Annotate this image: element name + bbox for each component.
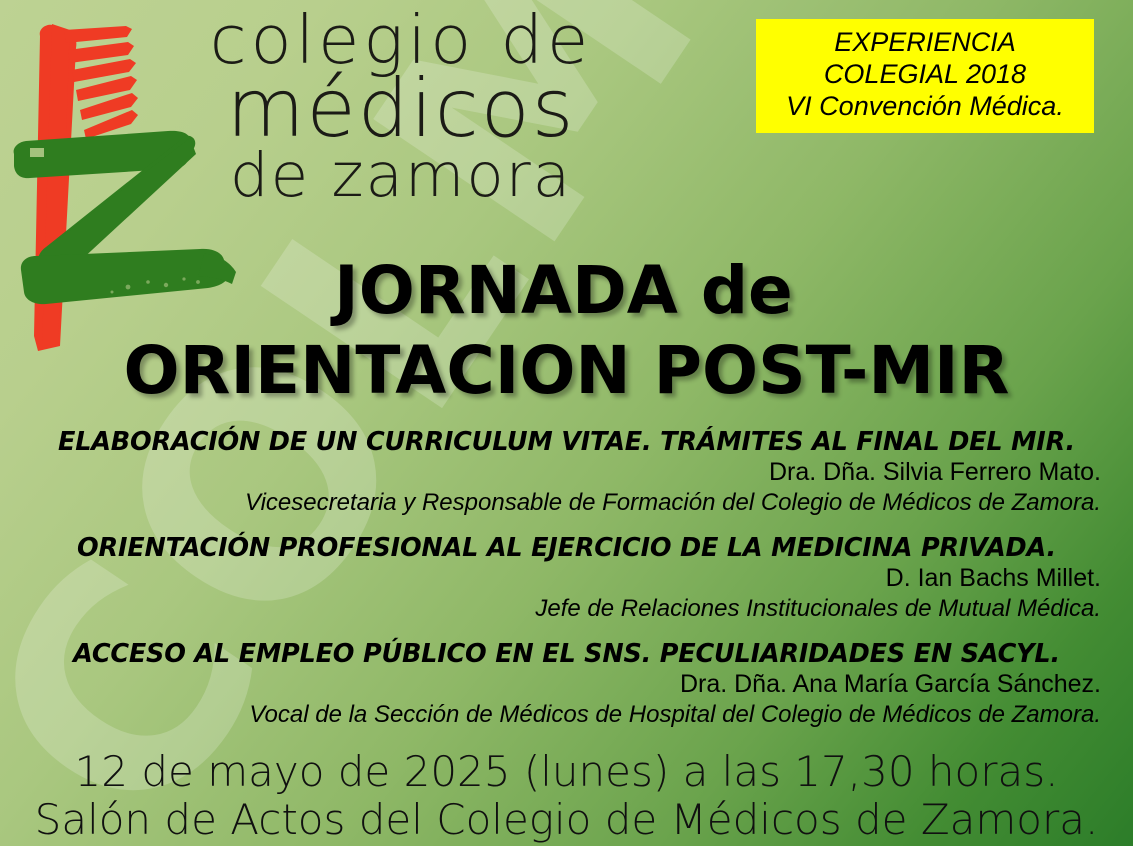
experiencia-colegial-badge: EXPERIENCIA COLEGIAL 2018 VI Convención … (756, 19, 1094, 133)
badge-line-3: VI Convención Médica. (786, 91, 1064, 123)
colegio-wordmark: colegio de médicos de zamora (186, 8, 616, 206)
session-title: ACCESO AL EMPLEO PÚBLICO EN EL SNS. PECU… (22, 640, 1111, 668)
session-title: ORIENTACIÓN PROFESIONAL AL EJERCICIO DE … (22, 534, 1111, 562)
session-item: ACCESO AL EMPLEO PÚBLICO EN EL SNS. PECU… (22, 640, 1111, 730)
title-line-1: JORNADA de (0, 258, 1133, 324)
session-role: Jefe de Relaciones Institucionales de Mu… (22, 594, 1111, 624)
event-venue: Salón de Actos del Colegio de Médicos de… (0, 796, 1133, 844)
session-role: Vocal de la Sección de Médicos de Hospit… (22, 700, 1111, 730)
session-list: ELABORACIÓN DE UN CURRICULUM VITAE. TRÁM… (0, 428, 1133, 746)
session-speaker: Dra. Dña. Silvia Ferrero Mato. (22, 456, 1111, 488)
badge-line-2: COLEGIAL 2018 (824, 59, 1026, 91)
session-speaker: D. Ian Bachs Millet. (22, 562, 1111, 594)
session-item: ORIENTACIÓN PROFESIONAL AL EJERCICIO DE … (22, 534, 1111, 624)
logo-line-2: médicos (186, 70, 616, 148)
session-speaker: Dra. Dña. Ana María García Sánchez. (22, 668, 1111, 700)
event-details: 12 de mayo de 2025 (lunes) a las 17,30 h… (0, 748, 1133, 844)
event-datetime: 12 de mayo de 2025 (lunes) a las 17,30 h… (0, 748, 1133, 796)
session-role: Vicesecretaria y Responsable de Formació… (22, 488, 1111, 518)
title-line-2: ORIENTACION POST-MIR (0, 338, 1133, 404)
session-item: ELABORACIÓN DE UN CURRICULUM VITAE. TRÁM… (22, 428, 1111, 518)
event-poster: COLMEZA (0, 0, 1133, 846)
badge-line-1: EXPERIENCIA (834, 27, 1016, 59)
logo-line-3: de zamora (186, 146, 616, 206)
page-title: JORNADA de ORIENTACION POST-MIR (0, 258, 1133, 404)
session-title: ELABORACIÓN DE UN CURRICULUM VITAE. TRÁM… (22, 428, 1111, 456)
